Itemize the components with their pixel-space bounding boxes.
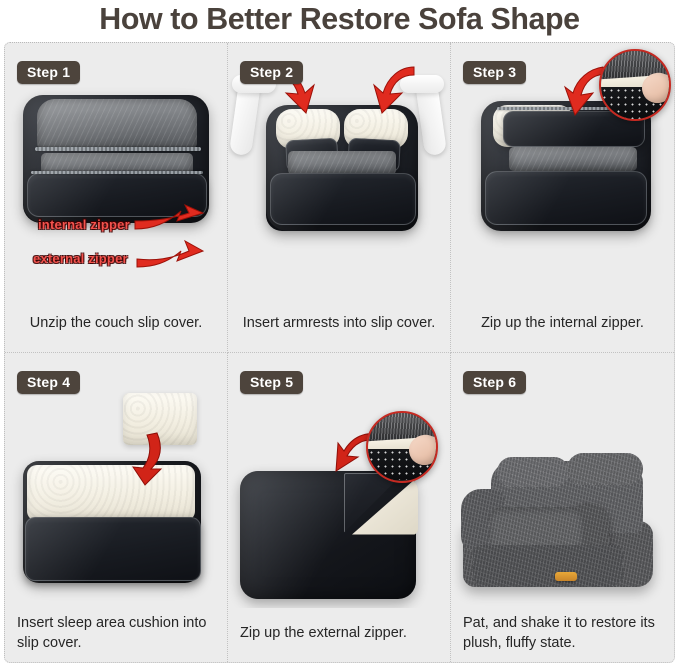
inserted-cushion xyxy=(27,465,195,521)
sofa-back-cushion-right xyxy=(567,453,643,485)
step-1-caption: Unzip the couch slip cover. xyxy=(5,298,227,352)
step-4-caption: Insert sleep area cushion into slip cove… xyxy=(5,608,227,662)
step-cell-2: Step 2 xyxy=(228,43,451,353)
internal-zipper-label: internal zipper xyxy=(38,217,130,232)
step-3-badge: Step 3 xyxy=(463,61,526,84)
instruction-infographic: How to Better Restore Sofa Shape Step 1 xyxy=(0,0,679,667)
mesh-window xyxy=(288,151,396,175)
step-4-illustration: Step 4 xyxy=(5,353,227,609)
mesh-window xyxy=(37,99,197,149)
brand-tag xyxy=(555,572,577,581)
step-2-illustration: Step 2 xyxy=(228,43,450,298)
step-5-illustration: Step 5 xyxy=(228,353,450,609)
step-6-caption: Pat, and shake it to restore its plush, … xyxy=(451,608,674,662)
step-5-badge: Step 5 xyxy=(240,371,303,394)
page-title: How to Better Restore Sofa Shape xyxy=(7,0,672,38)
steps-grid: Step 1 internal zipper external zipper xyxy=(4,42,675,663)
step-2-caption: Insert armrests into slip cover. xyxy=(228,298,450,352)
step-cell-4: Step 4 Insert sleep area cushion into sl… xyxy=(5,353,228,663)
sofa-back-cushion-left xyxy=(497,457,569,487)
red-curved-arrow-down-icon xyxy=(129,431,169,487)
sofa-front-skirt xyxy=(473,545,623,587)
step-cell-3: Step 3 Zip up the internal zip xyxy=(451,43,674,353)
step-2-badge: Step 2 xyxy=(240,61,303,84)
step-6-badge: Step 6 xyxy=(463,371,526,394)
red-arrow-right-icon-external xyxy=(135,239,207,271)
external-flap-panel xyxy=(485,171,647,225)
inner-liner-band xyxy=(509,147,637,171)
step-1-illustration: Step 1 internal zipper external zipper xyxy=(5,43,227,298)
step-5-caption: Zip up the external zipper. xyxy=(228,608,450,662)
step-cell-6: Step 6 Pat, and shake it to resto xyxy=(451,353,674,663)
step-cell-5: Step 5 Zip up the external zipper. xyxy=(228,353,451,663)
step-1-badge: Step 1 xyxy=(17,61,80,84)
closed-slip-cover xyxy=(240,471,416,599)
external-flap-panel xyxy=(25,517,201,581)
red-arrow-right-icon-internal xyxy=(133,203,209,235)
external-flap-panel xyxy=(270,173,416,225)
sofa-seat-cushion xyxy=(489,507,583,551)
step-3-caption: Zip up the internal zipper. xyxy=(451,298,674,352)
internal-zipper-line xyxy=(35,147,201,151)
red-arrow-down-right-icon xyxy=(370,63,416,117)
step-4-badge: Step 4 xyxy=(17,371,80,394)
external-zipper-line xyxy=(31,171,203,174)
step-6-illustration: Step 6 xyxy=(451,353,674,609)
external-zipper-label: external zipper xyxy=(33,251,128,266)
step-3-illustration: Step 3 xyxy=(451,43,674,298)
step-cell-1: Step 1 internal zipper external zipper xyxy=(5,43,228,353)
circle-zoom-inset xyxy=(599,49,671,121)
circle-zoom-inset xyxy=(366,411,438,483)
